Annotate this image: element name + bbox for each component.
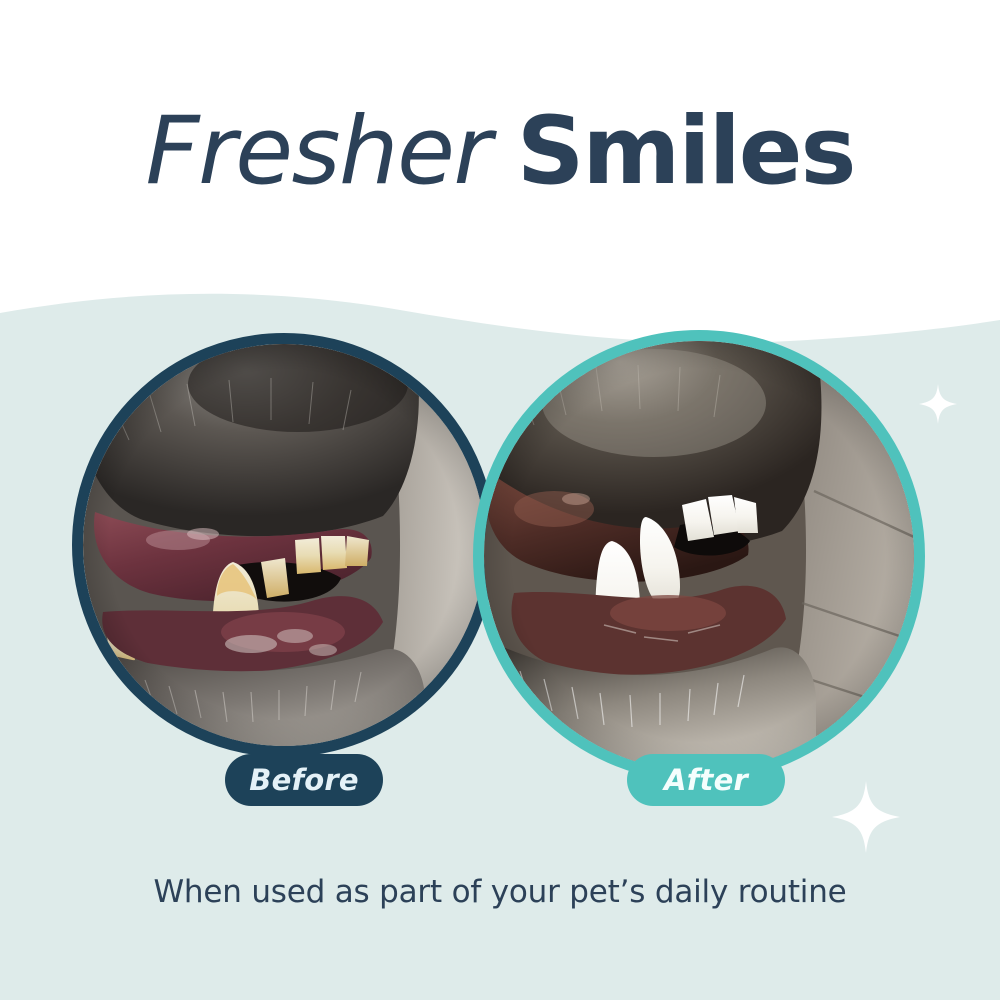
before-photo-image bbox=[83, 344, 485, 746]
before-photo bbox=[83, 344, 485, 746]
infographic-canvas: Fresher Smiles bbox=[0, 0, 1000, 1000]
after-photo-circle bbox=[473, 330, 925, 782]
badge-before-label: Before bbox=[249, 763, 358, 797]
after-photo bbox=[484, 341, 914, 771]
sparkle-large-icon bbox=[832, 781, 900, 853]
title-word-bold: Smiles bbox=[517, 97, 855, 206]
footer-caption: When used as part of your pet’s daily ro… bbox=[0, 874, 1000, 910]
before-photo-circle bbox=[72, 333, 496, 757]
badge-after-label: After bbox=[664, 763, 748, 797]
after-photo-image bbox=[484, 341, 914, 771]
sparkle-small-icon bbox=[919, 384, 957, 424]
badge-after: After bbox=[627, 754, 785, 806]
title-word-light: Fresher bbox=[146, 97, 491, 206]
badge-before: Before bbox=[225, 754, 383, 806]
page-title: Fresher Smiles bbox=[0, 104, 1000, 199]
